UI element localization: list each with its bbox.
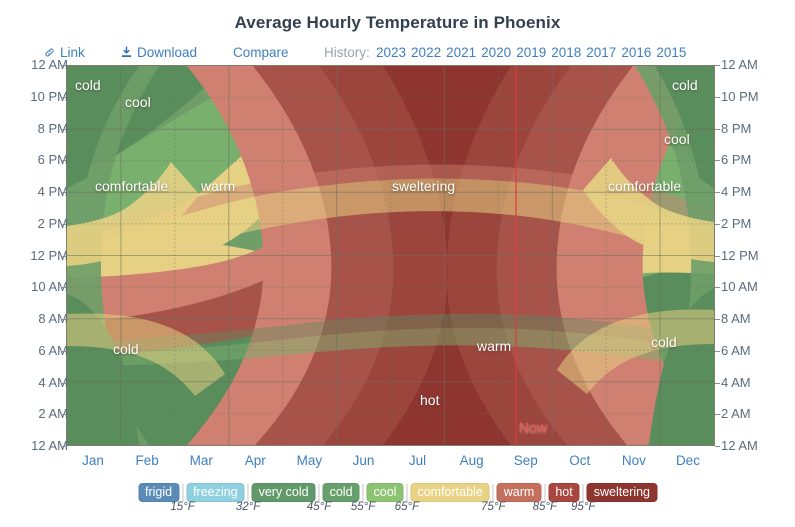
page-title: Average Hourly Temperature in Phoenix — [0, 13, 795, 33]
y-axis-tick — [715, 287, 720, 288]
history-year-2022[interactable]: 2022 — [411, 45, 441, 60]
y-axis-tick — [61, 192, 66, 193]
y-axis-tick — [61, 65, 66, 66]
x-axis-label-oct[interactable]: Oct — [550, 452, 610, 470]
history-label: History: — [324, 43, 370, 63]
y-axis-right-label: 12 AM — [721, 439, 783, 453]
y-axis-left-label: 2 AM — [8, 407, 68, 421]
y-axis-right-label: 8 AM — [721, 312, 783, 326]
history-year-2017[interactable]: 2017 — [586, 45, 616, 60]
legend-chip-frigid[interactable]: frigid — [138, 483, 179, 502]
y-axis-right-label: 4 PM — [721, 185, 783, 199]
history-year-2021[interactable]: 2021 — [446, 45, 476, 60]
history-year-2023[interactable]: 2023 — [376, 45, 406, 60]
history-year-2016[interactable]: 2016 — [621, 45, 651, 60]
x-axis-label-apr[interactable]: Apr — [225, 452, 285, 470]
download-label: Download — [137, 45, 197, 60]
y-axis-right-label: 2 PM — [721, 217, 783, 231]
y-axis-right-label: 10 PM — [721, 90, 783, 104]
x-axis-label-aug[interactable]: Aug — [442, 452, 502, 470]
legend-chip-warm[interactable]: warm — [497, 483, 542, 502]
y-axis-left-label: 4 PM — [8, 185, 68, 199]
legend-scale-tick: 95°F — [561, 501, 605, 513]
now-label: Now — [519, 419, 547, 435]
temperature-heatmap[interactable]: cold cool comfortable warm sweltering co… — [66, 65, 715, 446]
download-icon — [120, 45, 133, 65]
legend-separator — [182, 484, 183, 501]
y-axis-right-label: 12 AM — [721, 58, 783, 72]
legend-separator — [406, 484, 407, 501]
legend-scale-tick: 15°F — [161, 501, 205, 513]
legend-separator — [363, 484, 364, 501]
y-axis-right-label: 12 PM — [721, 249, 783, 263]
y-axis-tick — [715, 192, 720, 193]
temperature-legend: frigidfreezingvery coldcoldcoolcomfortab… — [0, 481, 795, 503]
y-axis-tick — [61, 160, 66, 161]
legend-separator — [544, 484, 545, 501]
y-axis-tick — [61, 351, 66, 352]
y-axis-right-label: 6 PM — [721, 153, 783, 167]
history-year-list: 202320222021202020192018201720162015 — [376, 43, 691, 63]
x-axis-label-nov[interactable]: Nov — [604, 452, 664, 470]
x-axis-label-may[interactable]: May — [279, 452, 339, 470]
x-axis-label-feb[interactable]: Feb — [117, 452, 177, 470]
y-axis-left-label: 12 PM — [8, 249, 68, 263]
y-axis-left-label: 12 AM — [8, 439, 68, 453]
chart-toolbar: Link Download Compare History: 202320222… — [0, 43, 795, 63]
x-axis-label-jan[interactable]: Jan — [63, 452, 123, 470]
y-axis-tick — [715, 97, 720, 98]
y-axis-tick — [61, 97, 66, 98]
y-axis-left-label: 12 AM — [8, 58, 68, 72]
y-axis-left-label: 2 PM — [8, 217, 68, 231]
y-axis-right-label: 8 PM — [721, 122, 783, 136]
y-axis-left-label: 8 AM — [8, 312, 68, 326]
y-axis-tick — [715, 129, 720, 130]
y-axis-tick — [715, 65, 720, 66]
y-axis-tick — [715, 319, 720, 320]
legend-separator — [248, 484, 249, 501]
legend-separator — [319, 484, 320, 501]
y-axis-tick — [715, 383, 720, 384]
legend-scale-ticks: 15°F32°F45°F55°F65°F75°F85°F95°F — [0, 501, 795, 519]
legend-scale-tick: 85°F — [523, 501, 567, 513]
legend-chip-cold[interactable]: cold — [323, 483, 360, 502]
legend-chips: frigidfreezingvery coldcoldcoolcomfortab… — [135, 481, 660, 503]
y-axis-tick — [61, 256, 66, 257]
legend-chip-sweltering[interactable]: sweltering — [587, 483, 657, 502]
x-axis-label-mar[interactable]: Mar — [171, 452, 231, 470]
y-axis-tick — [61, 319, 66, 320]
x-axis-label-jul[interactable]: Jul — [388, 452, 448, 470]
legend-scale-tick: 75°F — [471, 501, 515, 513]
y-axis-tick — [715, 351, 720, 352]
y-axis-right-label: 6 AM — [721, 344, 783, 358]
y-axis-right-label: 4 AM — [721, 376, 783, 390]
legend-separator — [493, 484, 494, 501]
history-year-2020[interactable]: 2020 — [481, 45, 511, 60]
y-axis-left-label: 10 PM — [8, 90, 68, 104]
y-axis-tick — [61, 129, 66, 130]
download-button[interactable]: Download — [120, 43, 197, 63]
legend-chip-freezing[interactable]: freezing — [186, 483, 244, 502]
y-axis-tick — [715, 224, 720, 225]
y-axis-left-label: 10 AM — [8, 280, 68, 294]
legend-scale-tick: 55°F — [341, 501, 385, 513]
y-axis-right-label: 10 AM — [721, 280, 783, 294]
y-axis-tick — [715, 160, 720, 161]
x-axis-label-sep[interactable]: Sep — [496, 452, 556, 470]
y-axis-tick — [61, 414, 66, 415]
legend-chip-very-cold[interactable]: very cold — [252, 483, 316, 502]
heatmap-surface — [67, 66, 714, 445]
y-axis-tick — [61, 383, 66, 384]
history-year-2018[interactable]: 2018 — [551, 45, 581, 60]
y-axis-tick — [715, 414, 720, 415]
y-axis-tick — [715, 256, 720, 257]
compare-button[interactable]: Compare — [233, 43, 289, 63]
y-axis-tick — [715, 446, 720, 447]
y-axis-right-label: 2 AM — [721, 407, 783, 421]
y-axis-left-label: 6 AM — [8, 344, 68, 358]
x-axis-label-dec[interactable]: Dec — [658, 452, 718, 470]
legend-chip-hot[interactable]: hot — [548, 483, 579, 502]
legend-separator — [583, 484, 584, 501]
y-axis-left-label: 8 PM — [8, 122, 68, 136]
history-year-2015[interactable]: 2015 — [656, 45, 686, 60]
y-axis-tick — [61, 224, 66, 225]
legend-scale-tick: 65°F — [385, 501, 429, 513]
legend-chip-comfortable[interactable]: comfortable — [410, 483, 489, 502]
legend-scale-tick: 45°F — [297, 501, 341, 513]
y-axis-left-label: 4 AM — [8, 376, 68, 390]
y-axis-tick — [61, 287, 66, 288]
y-axis-left-label: 6 PM — [8, 153, 68, 167]
legend-chip-cool[interactable]: cool — [367, 483, 404, 502]
history-year-2019[interactable]: 2019 — [516, 45, 546, 60]
legend-scale-tick: 32°F — [226, 501, 270, 513]
y-axis-tick — [61, 446, 66, 447]
x-axis-label-jun[interactable]: Jun — [333, 452, 393, 470]
